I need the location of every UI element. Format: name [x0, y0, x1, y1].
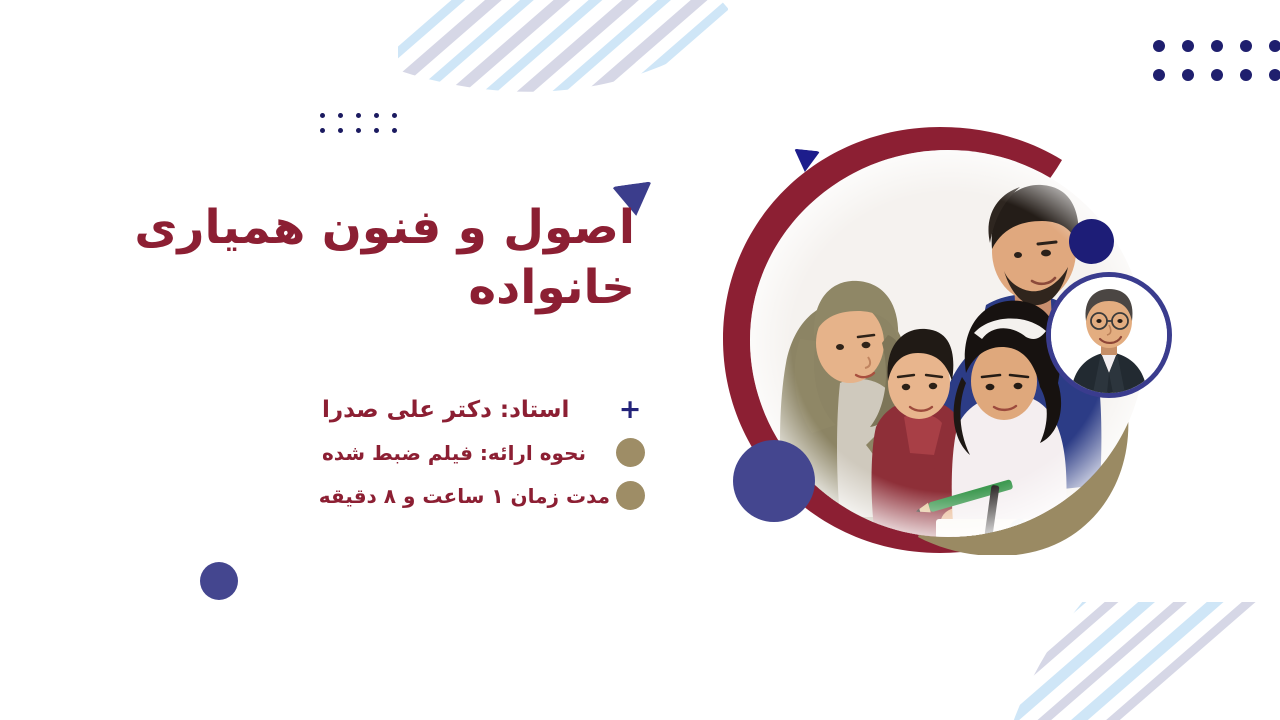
dot [1153, 69, 1165, 81]
dot [356, 128, 361, 133]
circle-bullet-icon [610, 481, 650, 510]
dot [374, 113, 379, 118]
instructor-avatar [1046, 272, 1172, 398]
dot [1269, 69, 1280, 81]
meta-instructor-label: استاد: دکتر علی صدرا [320, 397, 610, 423]
meta-duration-label: مدت زمان ۱ ساعت و ۸ دقیقه [317, 484, 610, 508]
meta-row-format: نحوه ارائه: فیلم ضبط شده [320, 431, 650, 474]
dot [374, 128, 379, 133]
dot [392, 128, 397, 133]
meta-row-duration: مدت زمان ۱ ساعت و ۸ دقیقه [320, 474, 650, 517]
dot [1153, 40, 1165, 52]
dot-grid-large-icon [1136, 40, 1280, 98]
meta-format-label: نحوه ارائه: فیلم ضبط شده [320, 441, 610, 465]
navy-circle-accent-large [733, 440, 815, 522]
navy-circle-decoration [200, 562, 238, 600]
dot [338, 113, 343, 118]
dot [320, 128, 325, 133]
dot [1269, 40, 1280, 52]
dot [1182, 40, 1194, 52]
circle-bullet-icon [610, 438, 650, 467]
page-title: اصول و فنون همیاری خانواده [105, 198, 635, 318]
dot [1182, 69, 1194, 81]
dot [1211, 69, 1223, 81]
course-meta-list: + استاد: دکتر علی صدرا نحوه ارائه: فیلم … [320, 388, 650, 517]
title-block: اصول و فنون همیاری خانواده [105, 198, 635, 318]
dot [1240, 40, 1252, 52]
dot [356, 113, 361, 118]
meta-row-instructor: + استاد: دکتر علی صدرا [320, 388, 650, 431]
diagonal-stripe-fan-bottom-icon [905, 602, 1280, 720]
dot [320, 113, 325, 118]
dot [1211, 40, 1223, 52]
dot-grid-small-icon [307, 113, 397, 143]
triangle-accent-icon [792, 149, 820, 174]
diagonal-stripe-fan-top-icon [398, 0, 728, 146]
presentation-slide: اصول و فنون همیاری خانواده + استاد: دکتر… [0, 0, 1280, 720]
dot [1240, 69, 1252, 81]
dot [338, 128, 343, 133]
dot [392, 113, 397, 118]
plus-icon: + [610, 396, 650, 423]
navy-circle-accent [1069, 219, 1114, 264]
